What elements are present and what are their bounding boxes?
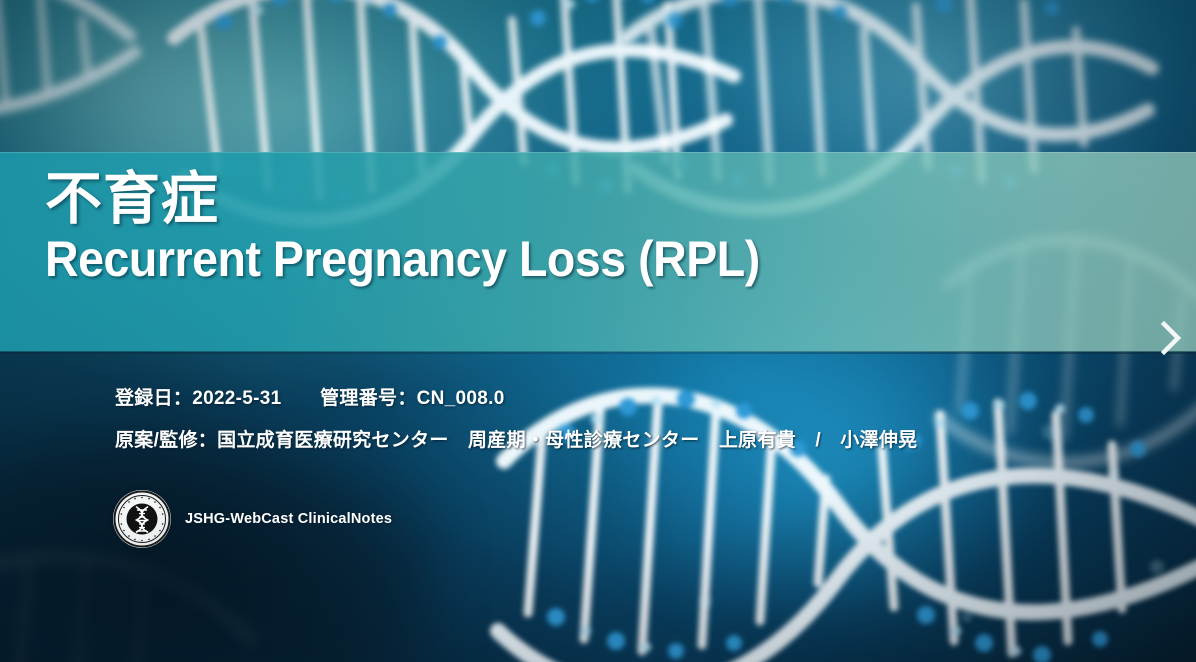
- next-slide-button[interactable]: [1154, 318, 1188, 358]
- footer: JSHG-WebCast ClinicalNotes: [113, 490, 392, 548]
- bokeh-dot: [962, 612, 972, 622]
- bokeh-dot: [700, 596, 712, 608]
- jshg-seal-graphic: [113, 490, 171, 548]
- bokeh-dot: [1042, 424, 1058, 440]
- title-block: 不育症 Recurrent Pregnancy Loss (RPL): [45, 170, 814, 285]
- bokeh-dot: [1108, 468, 1119, 479]
- jshg-seal-logo-icon: [113, 490, 171, 548]
- metadata-authors-line: 原案/監修：国立成育医療研究センター 周産期・母性診療センター 上原有貴 / 小…: [115, 425, 917, 452]
- slide-title-japanese: 不育症: [45, 170, 814, 229]
- footer-brand-label: JSHG-WebCast ClinicalNotes: [185, 511, 392, 527]
- presentation-slide: 不育症 Recurrent Pregnancy Loss (RPL) 登録日：2…: [0, 0, 1196, 662]
- metadata-registration-line: 登録日：2022-5-31 管理番号：CN_008.0: [115, 383, 505, 410]
- slide-title-english: Recurrent Pregnancy Loss (RPL): [45, 233, 760, 285]
- bokeh-dot: [1150, 560, 1164, 574]
- chevron-right-icon: [1160, 321, 1182, 355]
